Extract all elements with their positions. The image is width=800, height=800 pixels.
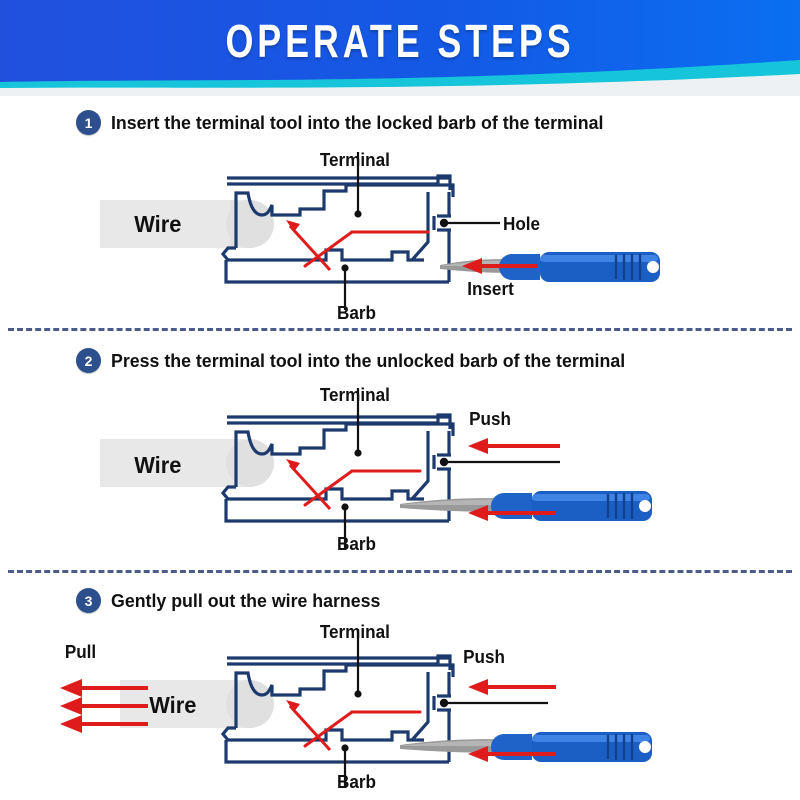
pull-arrows bbox=[60, 679, 148, 733]
divider-1 bbox=[8, 328, 792, 331]
operate-steps-page: OPERATE STEPS 1 Insert the terminal tool… bbox=[0, 0, 800, 800]
terminal-tool bbox=[491, 732, 652, 762]
step-2-badge: 2 bbox=[76, 348, 101, 373]
step-3-label-pull: Pull bbox=[65, 642, 96, 663]
step-2-header: 2 Press the terminal tool into the unloc… bbox=[76, 348, 647, 373]
push-arrow-upper bbox=[468, 438, 560, 454]
step-3-label-wire: Wire bbox=[149, 692, 196, 719]
step-3: 3 Gently pull out the wire harness bbox=[0, 0, 800, 230]
divider-2 bbox=[8, 570, 792, 573]
step-3-label-barb: Barb bbox=[337, 772, 376, 793]
step-2-instruction: Press the terminal tool into the unlocke… bbox=[111, 350, 625, 372]
step-1-label-barb: Barb bbox=[337, 303, 376, 324]
step-3-instruction: Gently pull out the wire harness bbox=[111, 590, 380, 612]
terminal-tool bbox=[491, 491, 652, 521]
step-3-badge: 3 bbox=[76, 588, 101, 613]
push-arrow-upper bbox=[468, 679, 556, 695]
step-1-label-insert: Insert bbox=[467, 279, 514, 300]
step-3-label-terminal: Terminal bbox=[320, 622, 390, 643]
step-2-label-terminal: Terminal bbox=[320, 385, 390, 406]
step-2-label-push: Push bbox=[469, 409, 511, 430]
step-2-label-wire: Wire bbox=[134, 452, 181, 479]
step-2-diagram bbox=[0, 382, 800, 562]
step-2-label-barb: Barb bbox=[337, 534, 376, 555]
step-3-diagram bbox=[0, 620, 800, 800]
step-3-header: 3 Gently pull out the wire harness bbox=[76, 588, 392, 613]
step-3-label-push: Push bbox=[463, 647, 505, 668]
